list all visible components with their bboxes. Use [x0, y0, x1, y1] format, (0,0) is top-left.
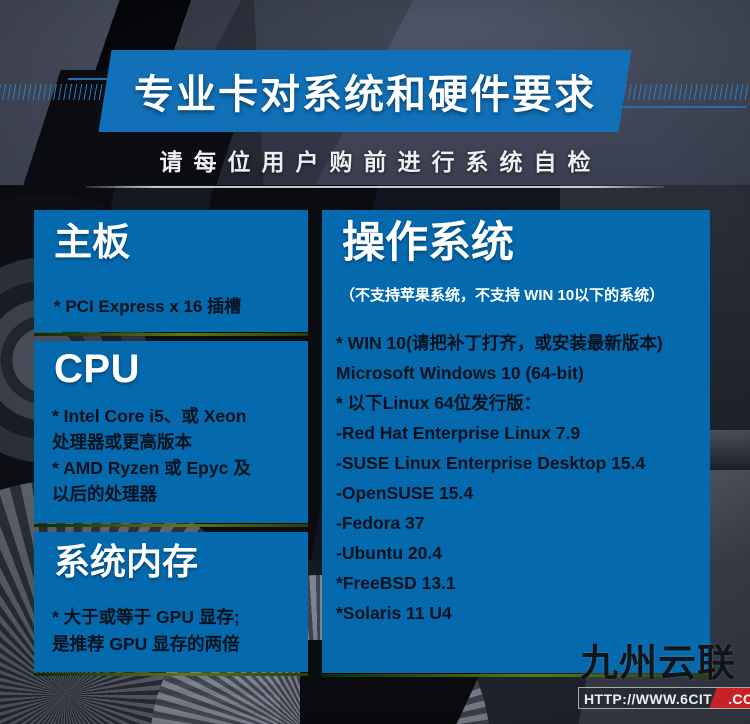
watermark-brand: 九州云联	[580, 645, 736, 683]
requirements-columns: 主板 * PCI Express x 16 插槽 CPU * Intel Cor…	[0, 0, 750, 724]
card-operating-system: 操作系统 （不支持苹果系统，不支持 WIN 10以下的系统） * WIN 10(…	[322, 210, 710, 673]
os-line-10: *Solaris 11 U4	[336, 598, 704, 628]
card-os-note: （不支持苹果系统，不支持 WIN 10以下的系统）	[340, 284, 664, 305]
watermark-logo: 九州云联 HTTP://WWW.6CIT .COM	[578, 645, 750, 717]
card-cpu-title: CPU	[54, 349, 140, 389]
card-os-title: 操作系统	[342, 222, 514, 265]
os-line-7: -Fedora 37	[336, 508, 704, 538]
card-cpu-line-3: * AMD Ryzen 或 Epyc 及	[52, 455, 302, 481]
card-memory-line-2: 是推荐 GPU 显存的两倍	[52, 631, 304, 658]
os-line-9: *FreeBSD 13.1	[336, 568, 704, 598]
os-line-4: -Red Hat Enterprise Linux 7.9	[336, 418, 704, 448]
card-memory-body: * 大于或等于 GPU 显存; 是推荐 GPU 显存的两倍	[52, 604, 304, 658]
card-os-list: * WIN 10(请把补丁打齐，或安装最新版本) Microsoft Windo…	[336, 328, 704, 628]
watermark-url: HTTP://WWW.6CIT .COM	[578, 687, 750, 709]
card-cpu-line-1: * Intel Core i5、或 Xeon	[52, 403, 302, 429]
card-motherboard-title: 主板	[54, 224, 130, 262]
card-divider-1	[34, 333, 308, 336]
card-divider-3	[34, 673, 308, 676]
os-line-2: Microsoft Windows 10 (64-bit)	[336, 358, 704, 388]
card-divider-2	[34, 524, 308, 527]
card-cpu: CPU * Intel Core i5、或 Xeon 处理器或更高版本 * AM…	[34, 341, 308, 523]
os-line-1: * WIN 10(请把补丁打齐，或安装最新版本)	[336, 328, 704, 358]
os-line-3: * 以下Linux 64位发行版：	[336, 388, 704, 418]
card-memory-title: 系统内存	[54, 544, 198, 580]
card-motherboard-line-1: * PCI Express x 16 插槽	[54, 292, 241, 317]
watermark-url-main: HTTP://WWW.6CIT	[579, 688, 716, 708]
card-motherboard: 主板 * PCI Express x 16 插槽	[34, 210, 308, 332]
card-memory: 系统内存 * 大于或等于 GPU 显存; 是推荐 GPU 显存的两倍	[34, 532, 308, 672]
card-cpu-line-2: 处理器或更高版本	[52, 429, 302, 455]
os-line-6: -OpenSUSE 15.4	[336, 478, 704, 508]
os-line-5: -SUSE Linux Enterprise Desktop 15.4	[336, 448, 704, 478]
card-cpu-body: * Intel Core i5、或 Xeon 处理器或更高版本 * AMD Ry…	[52, 403, 302, 507]
card-cpu-line-4: 以后的处理器	[52, 481, 302, 507]
card-memory-line-1: * 大于或等于 GPU 显存;	[52, 604, 304, 631]
os-line-8: -Ubuntu 20.4	[336, 538, 704, 568]
